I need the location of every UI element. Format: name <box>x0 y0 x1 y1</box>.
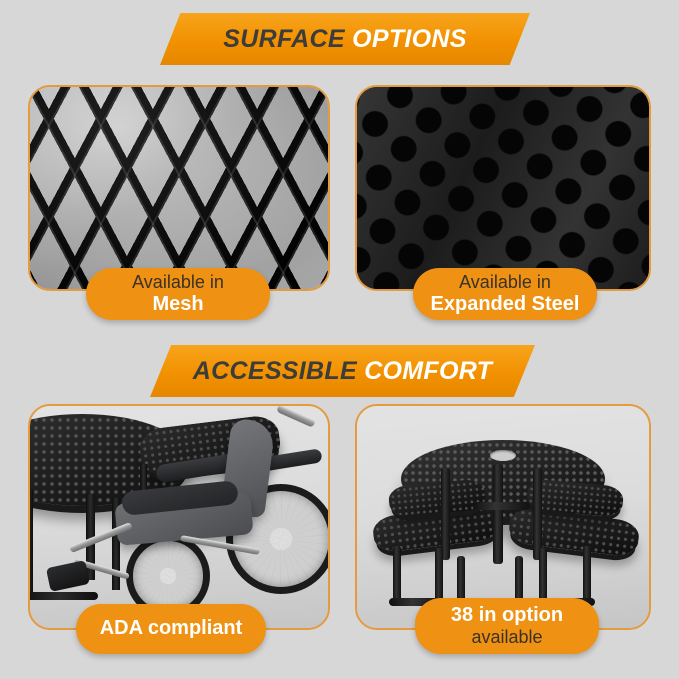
panel-38in-option[interactable] <box>355 404 651 630</box>
banner-lead-word: ACCESSIBLE <box>193 357 357 385</box>
bench-support-leg <box>393 546 401 604</box>
caption-pill-mesh: Available in Mesh <box>86 268 270 320</box>
expanded-steel-pattern-image <box>355 85 651 291</box>
banner-lead-word: SURFACE <box>223 25 345 53</box>
banner-trail-word: COMFORT <box>364 357 492 385</box>
table-leg <box>441 468 450 560</box>
caption-line-1: ADA compliant <box>100 617 243 641</box>
caption-line-1: 38 in option <box>451 604 563 628</box>
caption-pill-ada-compliant: ADA compliant <box>76 604 266 654</box>
umbrella-hole <box>490 450 516 461</box>
table-leg <box>533 468 542 560</box>
bench-front-right <box>507 506 640 558</box>
table-leg <box>493 464 503 564</box>
mesh-pattern-image <box>30 87 328 289</box>
banner-text: ACCESSIBLE COMFORT <box>193 357 492 386</box>
panel-ada-compliant[interactable] <box>28 404 330 630</box>
table-foot-rail <box>28 592 98 600</box>
caption-line-2: Mesh <box>152 293 203 317</box>
wheelchair-handle-bar <box>276 404 316 428</box>
caption-line-1: Available in <box>132 272 224 293</box>
panel-expanded-steel[interactable] <box>355 85 651 291</box>
center-hub <box>473 502 529 510</box>
caption-line-1: Available in <box>459 272 551 293</box>
panel-mesh[interactable] <box>28 85 330 291</box>
bench-support-leg <box>583 546 591 604</box>
infographic-page: SURFACE OPTIONS Available in Mesh Availa… <box>0 0 679 679</box>
banner-text: SURFACE OPTIONS <box>223 25 466 54</box>
table-leg <box>28 490 33 600</box>
caption-pill-expanded-steel: Available in Expanded Steel <box>413 268 597 320</box>
round-picnic-table-image <box>357 406 649 628</box>
caption-line-2: available <box>471 627 542 648</box>
banner-trail-word: OPTIONS <box>352 25 467 53</box>
section-banner-accessible-comfort: ACCESSIBLE COMFORT <box>150 345 535 397</box>
wheelchair-at-table-image <box>30 406 328 628</box>
wheelchair-footplate <box>46 560 90 592</box>
caption-pill-38in-option: 38 in option available <box>415 598 599 654</box>
caption-line-2: Expanded Steel <box>431 293 580 317</box>
section-banner-surface-options: SURFACE OPTIONS <box>160 13 530 65</box>
